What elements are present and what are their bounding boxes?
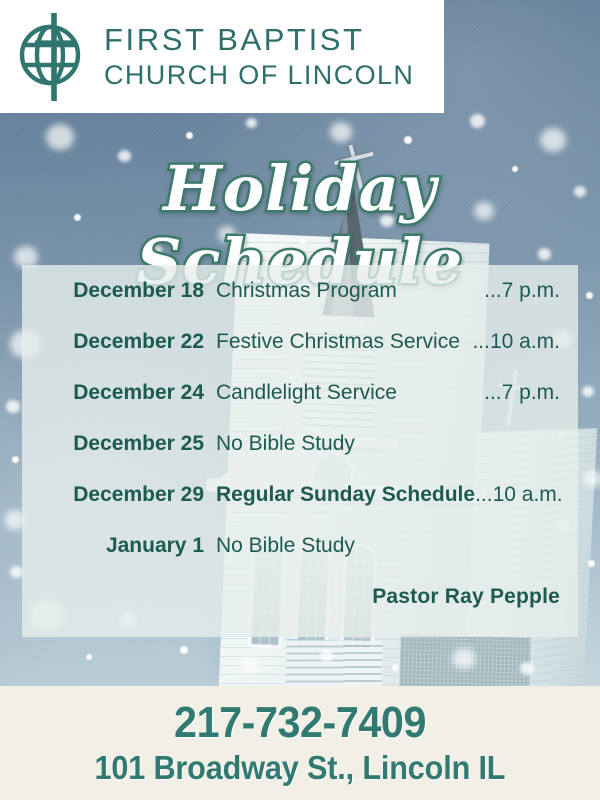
globe-cross-logo-icon: [14, 11, 92, 103]
schedule-row-time: ...7 p.m.: [474, 381, 560, 405]
schedule-row-date: December 29: [36, 483, 204, 507]
schedule-row: December 22Festive Christmas Service...1…: [36, 330, 560, 381]
schedule-row-date: December 18: [36, 279, 204, 303]
church-name-line1: FIRST BAPTIST: [104, 24, 414, 55]
schedule-row-description: Candlelight Service: [204, 381, 474, 405]
schedule-row-date: December 25: [36, 432, 204, 456]
schedule-row-description: No Bible Study: [204, 432, 474, 456]
pastor-name: Pastor Ray Pepple: [372, 585, 560, 609]
schedule-row: December 24Candlelight Service...7 p.m.: [36, 381, 560, 432]
schedule-row: December 29Regular Sunday Schedule...10 …: [36, 483, 560, 534]
schedule-row-date: December 22: [36, 330, 204, 354]
schedule-row-description: Festive Christmas Service: [204, 330, 472, 354]
header-logo-box: FIRST BAPTIST CHURCH OF LINCOLN: [0, 0, 444, 113]
schedule-row-date: December 24: [36, 381, 204, 405]
footer-contact-bar: 217-732-7409 101 Broadway St., Lincoln I…: [0, 686, 600, 800]
schedule-row-time: ...10 a.m.: [472, 330, 560, 354]
schedule-row-description: Christmas Program: [204, 279, 474, 303]
schedule-row: January 1No Bible Study: [36, 534, 560, 585]
schedule-row-time: ...7 p.m.: [474, 279, 560, 303]
phone-number[interactable]: 217-732-7409: [174, 701, 426, 745]
street-address[interactable]: 101 Broadway St., Lincoln IL: [95, 751, 506, 786]
schedule-panel: December 18Christmas Program...7 p.m.Dec…: [22, 265, 578, 637]
schedule-row-time: ...10 a.m.: [475, 483, 563, 507]
schedule-row-date: January 1: [36, 534, 204, 558]
schedule-row-description: Regular Sunday Schedule: [204, 483, 475, 507]
schedule-rows: December 18Christmas Program...7 p.m.Dec…: [22, 265, 578, 585]
schedule-row: December 25No Bible Study: [36, 432, 560, 483]
church-name-line2: CHURCH OF LINCOLN: [104, 62, 414, 89]
schedule-row: December 18Christmas Program...7 p.m.: [36, 279, 560, 330]
schedule-row-description: No Bible Study: [204, 534, 474, 558]
holiday-schedule-poster: FIRST BAPTIST CHURCH OF LINCOLN Holiday …: [0, 0, 600, 800]
